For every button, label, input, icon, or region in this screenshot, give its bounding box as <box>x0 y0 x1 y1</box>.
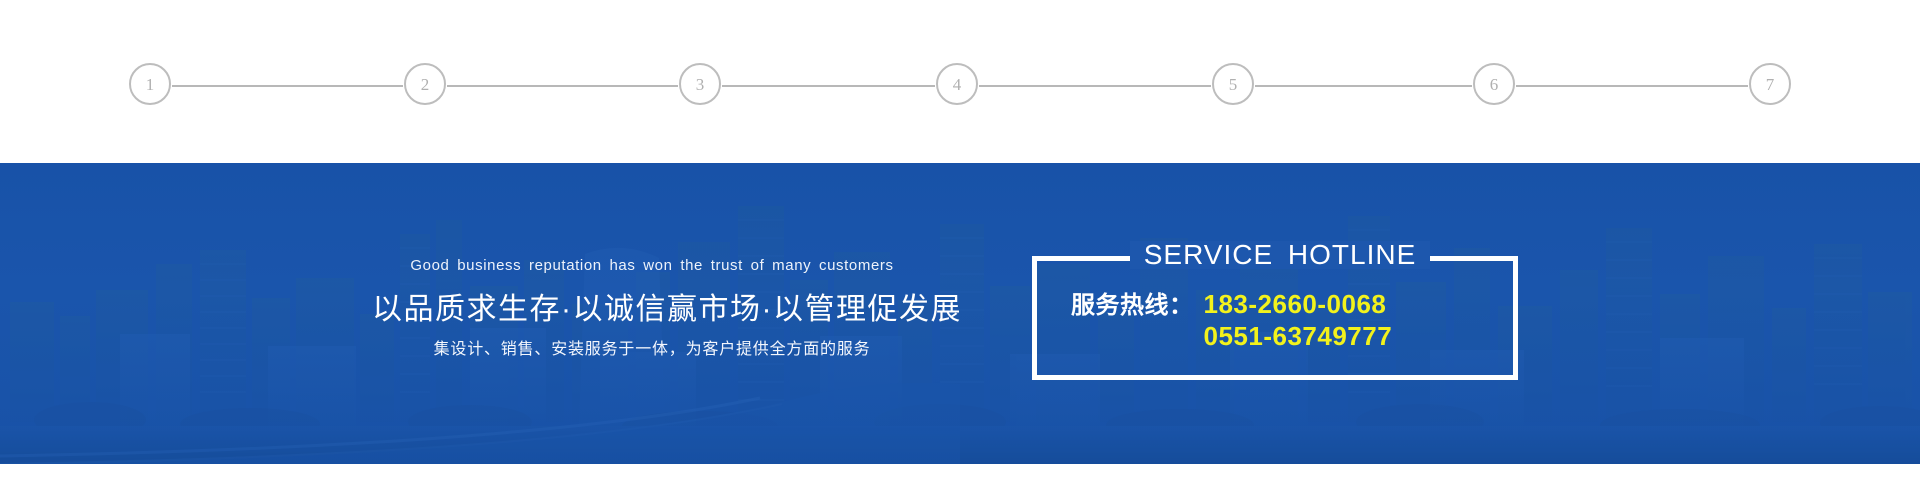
step-node-label: 6 <box>1490 76 1499 93</box>
step-connector <box>722 85 935 87</box>
city-skyline-background <box>0 194 1920 464</box>
step-node-1[interactable]: 1 <box>129 63 171 105</box>
slogan-chinese: 以品质求生存·以诚信赢市场·以管理促发展 <box>372 293 932 328</box>
slogan-subtitle: 集设计、销售、安装服务于一体，为客户提供全方面的服务 <box>372 342 932 358</box>
step-node-4[interactable]: 4 <box>936 63 978 105</box>
step-connector <box>1255 85 1472 87</box>
hotline-row-secondary: 服务热线： 0551-63749777 <box>1071 321 1523 353</box>
step-node-2[interactable]: 2 <box>404 63 446 105</box>
hotline-label: 服务热线： <box>1071 291 1194 320</box>
step-node-label: 7 <box>1766 76 1775 93</box>
stepper-band: 1234567 <box>0 0 1920 163</box>
service-hotline-box: SERVICE HOTLINE 服务热线： 183-2660-0068 服务热线… <box>1032 256 1518 380</box>
step-node-label: 3 <box>696 76 705 93</box>
step-node-7[interactable]: 7 <box>1749 63 1791 105</box>
step-node-label: 1 <box>146 76 155 93</box>
hotline-number-mobile[interactable]: 183-2660-0068 <box>1204 289 1387 321</box>
step-connector <box>979 85 1211 87</box>
step-connector <box>1516 85 1748 87</box>
slogan-block: Good business reputation has won the tru… <box>372 258 932 358</box>
step-node-5[interactable]: 5 <box>1212 63 1254 105</box>
step-node-3[interactable]: 3 <box>679 63 721 105</box>
step-node-label: 2 <box>421 76 430 93</box>
step-node-6[interactable]: 6 <box>1473 63 1515 105</box>
hotline-number-landline[interactable]: 0551-63749777 <box>1204 321 1393 353</box>
step-node-label: 4 <box>953 76 962 93</box>
step-progress-bar: 1234567 <box>0 0 1920 163</box>
hotline-row-primary: 服务热线： 183-2660-0068 <box>1071 289 1523 321</box>
hotline-number-list: 服务热线： 183-2660-0068 服务热线： 0551-63749777 <box>1037 289 1523 352</box>
step-node-label: 5 <box>1229 76 1238 93</box>
step-connector <box>447 85 678 87</box>
step-connector <box>172 85 403 87</box>
promo-banner: Good business reputation has won the tru… <box>0 163 1920 464</box>
slogan-english: Good business reputation has won the tru… <box>372 258 932 273</box>
